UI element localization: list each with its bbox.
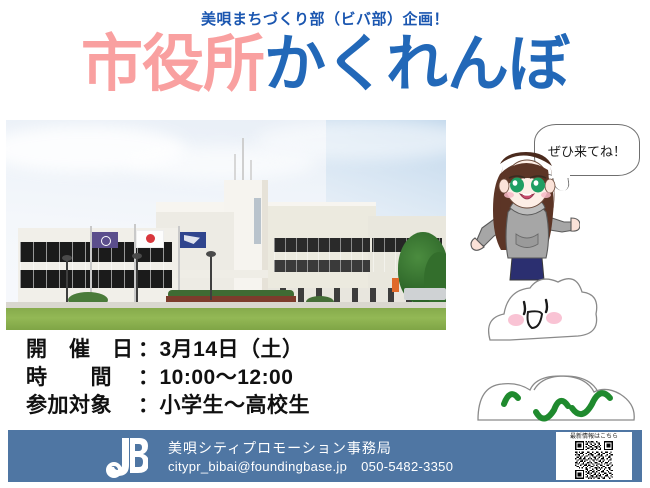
detail-separator: ：: [138, 366, 160, 389]
title-part-blue: かくれんぼ: [264, 30, 569, 99]
qr-label: 最新情報はこちら: [570, 433, 618, 441]
detail-label: 時 間: [26, 364, 138, 392]
lamp-post: [66, 260, 68, 304]
foundingbase-logo-icon: [100, 434, 148, 480]
detail-label: 参加対象: [26, 392, 138, 420]
japan-flag: [136, 230, 164, 248]
qr-code-icon[interactable]: [575, 441, 613, 479]
orange-marker: [392, 278, 399, 292]
detail-separator: ：: [138, 394, 160, 417]
poster-subtitle: 美唄まちづくり部（ビバ部）企画！: [0, 8, 650, 29]
poster-root: 美唄まちづくり部（ビバ部）企画！ 市役所かくれんぼ: [0, 0, 650, 488]
tower-window-strip: [254, 198, 261, 244]
detail-label: 開 催 日: [26, 336, 138, 364]
contact-email[interactable]: citypr_bibai@foundingbase.jp: [168, 459, 347, 474]
detail-value: 3月14日（土）: [160, 338, 304, 361]
organization-name: 美唄シティプロモーション事務局: [168, 438, 392, 458]
detail-row-audience: 参加対象 ：小学生〜高校生: [26, 392, 310, 420]
detail-row-time: 時 間 ：10:00〜12:00: [26, 364, 310, 392]
detail-row-date: 開 催 日：3月14日（土）: [26, 336, 310, 364]
city-emblem-flag: [92, 232, 118, 248]
window-mullions: [20, 242, 172, 288]
blue-flag: [180, 232, 206, 248]
city-hall-photo: [6, 120, 446, 330]
detail-value: 小学生〜高校生: [160, 394, 311, 417]
contact-line: citypr_bibai@foundingbase.jp050-5482-335…: [168, 459, 453, 474]
lamp-post: [210, 256, 212, 300]
event-details: 開 催 日：3月14日（土） 時 間 ：10:00〜12:00 参加対象 ：小学…: [26, 336, 310, 420]
footer-bar: 美唄シティプロモーション事務局 citypr_bibai@foundingbas…: [8, 430, 642, 482]
antenna-mast: [242, 138, 244, 184]
entrance-canopy: [176, 270, 268, 278]
lamp-post: [136, 258, 138, 302]
cloud-blob-mascot: [476, 272, 646, 422]
title-part-pink: 市役所: [81, 30, 264, 99]
detail-separator: ：: [138, 338, 160, 361]
lawn: [6, 308, 446, 330]
detail-value: 10:00〜12:00: [160, 366, 294, 389]
contact-phone[interactable]: 050-5482-3350: [361, 459, 453, 474]
page-title: 市役所かくれんぼ: [0, 34, 650, 96]
parked-vehicles: [404, 288, 446, 300]
qr-card[interactable]: 最新情報はこちら: [556, 432, 632, 480]
